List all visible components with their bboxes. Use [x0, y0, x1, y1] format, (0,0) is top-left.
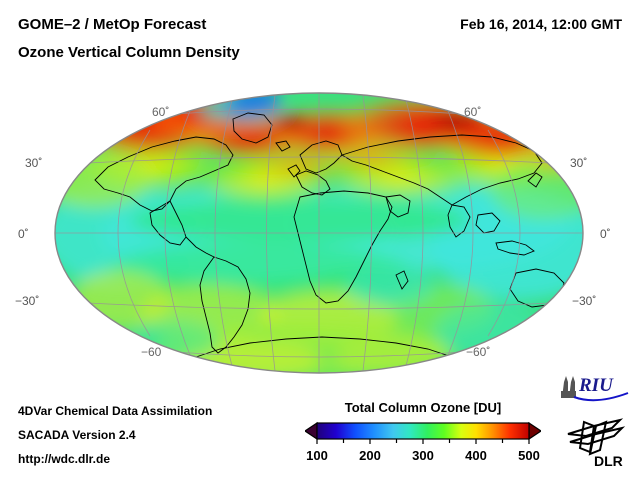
dlr-wordmark: DLR	[594, 453, 623, 469]
colorbar-title: Total Column Ozone [DU]	[313, 400, 533, 415]
colorbar-tick-400: 400	[465, 448, 487, 463]
lat-label-left-m30: −30˚	[15, 294, 39, 308]
dlr-logo: DLR	[560, 412, 630, 470]
forecast-datetime: Feb 16, 2014, 12:00 GMT	[460, 16, 622, 32]
colorbar-tick-100: 100	[306, 448, 328, 463]
lat-label-left-60: 60˚	[152, 105, 169, 119]
lat-label-right-0: 0˚	[600, 227, 611, 241]
lat-label-right-60: 60˚	[464, 105, 481, 119]
lat-label-right-30: 30˚	[570, 156, 587, 170]
colorbar-tick-500: 500	[518, 448, 540, 463]
lat-label-left-m60: −60	[141, 345, 161, 359]
page-title-line1: GOME–2 / MetOp Forecast	[18, 16, 206, 33]
riu-wordmark: RIU	[578, 375, 614, 396]
colorbar-gradient-bar	[317, 423, 529, 439]
colorbar-ticks	[317, 439, 529, 444]
colorbar	[305, 420, 541, 444]
colorbar-tick-200: 200	[359, 448, 381, 463]
lat-label-right-m60: −60˚	[466, 345, 490, 359]
lat-label-left-0: 0˚	[18, 227, 29, 241]
riu-logo: RIU	[558, 372, 632, 404]
cathedral-icon	[561, 376, 576, 398]
colorbar-over-arrow	[529, 423, 541, 439]
lat-label-right-m30: −30˚	[572, 294, 596, 308]
lat-label-left-30: 30˚	[25, 156, 42, 170]
dlr-mark-icon	[568, 420, 622, 454]
ozone-field	[40, 85, 610, 385]
page-title-line2: Ozone Vertical Column Density	[18, 44, 240, 61]
footer-url[interactable]: http://wdc.dlr.de	[18, 452, 110, 466]
colorbar-under-arrow	[305, 423, 317, 439]
colorbar-tick-300: 300	[412, 448, 434, 463]
footer-version: SACADA Version 2.4	[18, 428, 136, 442]
colorbar-tick-labels: 100 200 300 400 500	[285, 448, 557, 468]
ozone-global-map	[0, 85, 640, 385]
footer-method: 4DVar Chemical Data Assimilation	[18, 404, 212, 418]
